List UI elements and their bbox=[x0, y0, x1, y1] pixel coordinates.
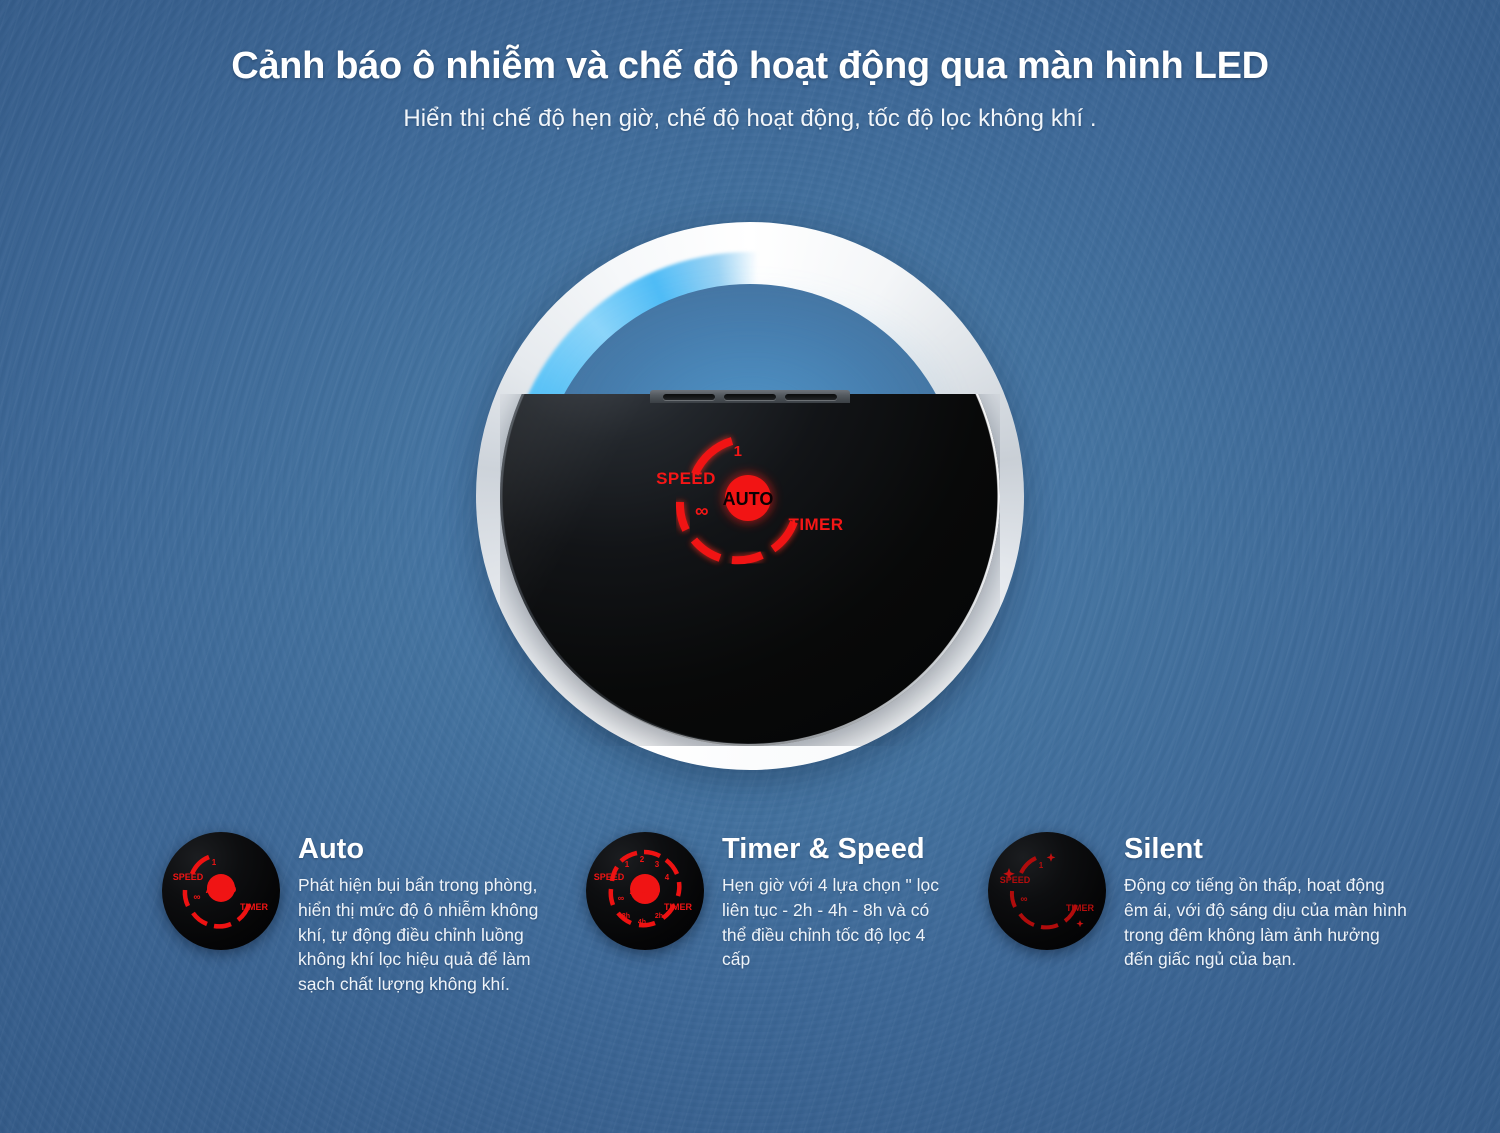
ring-segment-1 bbox=[680, 502, 686, 530]
thumb-infinity-symbol: ∞ bbox=[618, 893, 625, 903]
feature-silent-body: Silent Động cơ tiếng ồn thấp, hoạt động … bbox=[1124, 832, 1408, 972]
vent-slot-3 bbox=[785, 394, 837, 400]
vent-slot-2 bbox=[724, 394, 776, 400]
thumb-speed-label: SPEED bbox=[594, 872, 625, 882]
feature-silent-description: Động cơ tiếng ồn thấp, hoạt động êm ái, … bbox=[1124, 873, 1408, 972]
sparkle-icon-bottom-right bbox=[1076, 920, 1083, 927]
top-bezel bbox=[650, 390, 850, 403]
header-block: Cảnh báo ô nhiễm và chế độ hoạt động qua… bbox=[0, 44, 1500, 134]
auto-label: AUTO bbox=[723, 489, 774, 509]
feature-auto-thumbnail: AUTO SPEED 1 ∞ TIMER bbox=[162, 832, 280, 950]
feature-timer-speed-thumbnail: AUTO SPEED 1 2 3 4 ∞ TIMER 8h 4h 2h bbox=[586, 832, 704, 950]
thumb-timer-label: TIMER bbox=[240, 902, 268, 912]
feature-timer-speed: AUTO SPEED 1 2 3 4 ∞ TIMER 8h 4h 2h Time… bbox=[586, 832, 956, 972]
thumb-timer-label: TIMER bbox=[664, 902, 692, 912]
thumb-auto-label: AUTO bbox=[630, 885, 661, 897]
feature-auto: AUTO SPEED 1 ∞ TIMER Auto Phát hiện bụi … bbox=[162, 832, 542, 997]
thumb-timer-step-2h: 2h bbox=[655, 913, 663, 920]
thumb-infinity-symbol: ∞ bbox=[193, 892, 200, 903]
thumb-speed-label: SPEED bbox=[1000, 875, 1031, 885]
thumb-speed-step-2: 2 bbox=[640, 855, 645, 864]
feature-auto-body: Auto Phát hiện bụi bẩn trong phòng, hiển… bbox=[298, 832, 542, 997]
feature-silent-thumbnail: SPEED 1 ∞ TIMER bbox=[988, 832, 1106, 950]
thumb-speed-label: SPEED bbox=[173, 872, 204, 882]
thumb-speed-step-1: 1 bbox=[625, 860, 630, 869]
thumb-speed-step-3: 3 bbox=[655, 860, 660, 869]
air-purifier-device: AUTO SPEED 1 ∞ TIMER bbox=[476, 222, 1024, 770]
promo-banner: Cảnh báo ô nhiễm và chế độ hoạt động qua… bbox=[0, 0, 1500, 1133]
thumb-timer-step-4h: 4h bbox=[638, 919, 646, 926]
thumb-timer-label: TIMER bbox=[1066, 903, 1094, 913]
feature-auto-description: Phát hiện bụi bẩn trong phòng, hiển thị … bbox=[298, 873, 542, 997]
feature-silent-title: Silent bbox=[1124, 834, 1408, 866]
thumb-auto-label: AUTO bbox=[206, 884, 237, 896]
thumb-speed-step-4: 4 bbox=[665, 873, 670, 882]
sparkle-icon-top bbox=[1047, 853, 1056, 862]
thumb-timer-step-8h: 8h bbox=[622, 913, 630, 920]
feature-list: AUTO SPEED 1 ∞ TIMER Auto Phát hiện bụi … bbox=[0, 832, 1500, 997]
thumb-speed-value: 1 bbox=[1039, 861, 1044, 870]
led-control-cluster: AUTO SPEED 1 ∞ TIMER bbox=[640, 412, 860, 592]
speed-label: SPEED bbox=[656, 469, 716, 488]
speed-value: 1 bbox=[734, 443, 743, 460]
ring-segment-2 bbox=[694, 540, 720, 558]
page-title: Cảnh báo ô nhiễm và chế độ hoạt động qua… bbox=[0, 44, 1500, 90]
feature-auto-title: Auto bbox=[298, 834, 542, 866]
thumb-speed-value: 1 bbox=[212, 858, 217, 867]
feature-timer-speed-title: Timer & Speed bbox=[722, 834, 956, 866]
feature-timer-speed-description: Hẹn giờ với 4 lựa chọn " lọc liên tục - … bbox=[722, 873, 956, 972]
feature-timer-speed-body: Timer & Speed Hẹn giờ với 4 lựa chọn " l… bbox=[722, 832, 956, 972]
page-subtitle: Hiển thị chế độ hẹn giờ, chế độ hoạt độn… bbox=[0, 104, 1500, 134]
vent-slot-1 bbox=[663, 394, 715, 400]
infinity-symbol: ∞ bbox=[695, 501, 709, 522]
feature-silent: SPEED 1 ∞ TIMER Silent Động cơ tiếng ồn … bbox=[988, 832, 1408, 972]
timer-label: TIMER bbox=[789, 515, 844, 534]
thumb-infinity-symbol: ∞ bbox=[1020, 894, 1027, 905]
